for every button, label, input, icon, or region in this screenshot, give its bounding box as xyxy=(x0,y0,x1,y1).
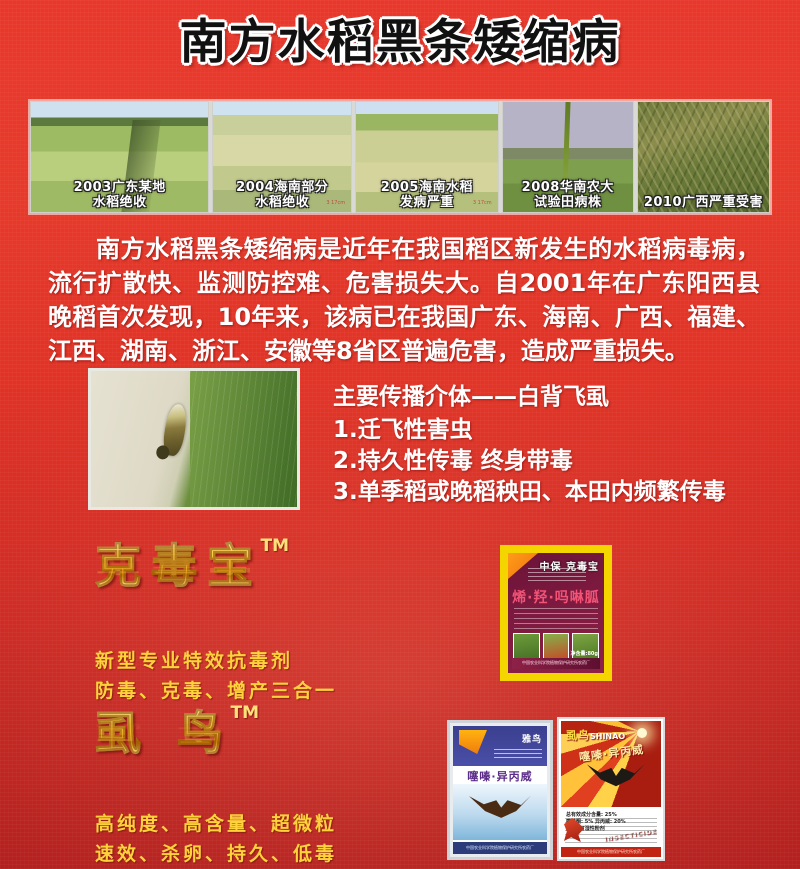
package-body: 雅鸟 噻嗪·异丙威 中国农业科学院植物保护研究所农药厂 xyxy=(453,726,547,854)
package-footer-bar: 中国农业科学院植物保护研究所农药厂 xyxy=(512,658,600,669)
brand-name-shinao: 虱 鸟 xyxy=(95,707,233,759)
package-top-band: 雅鸟 xyxy=(453,726,547,766)
planthopper-insect-icon xyxy=(161,402,189,456)
vector-item-2: 2.持久性传毒 终身带毒 xyxy=(333,446,783,477)
intro-paragraph: 南方水稻黑条矮缩病是近年在我国稻区新发生的水稻病毒病，流行扩散快、监测防控难、危… xyxy=(48,232,760,368)
package-description-lines xyxy=(514,607,598,629)
vector-item-3: 3.单季稻或晚稻秧田、本田内频繁传毒 xyxy=(333,477,783,508)
brand-block-kedubao: 克毒宝 TM 克毒宝 新型专业特效抗毒剂 防毒、克毒、增产三合一 xyxy=(95,540,395,706)
package-info-lines xyxy=(494,746,542,758)
photo-2010-guangxi: 2010广西严重受害 xyxy=(637,101,770,213)
photo-caption-line2: 水稻绝收 xyxy=(31,195,208,210)
rice-leaf-image xyxy=(190,371,297,507)
photo-caption-line1: 2004海南部分 xyxy=(213,180,351,195)
brand-name-kedubao: 克毒宝 xyxy=(95,540,263,592)
poster-root: 南方水稻黑条矮缩病 2003广东某地 水稻绝收 2004海南部分 水稻绝收 3 … xyxy=(0,0,800,869)
arrow-logo-icon xyxy=(459,730,487,754)
photo-caption-line1: 2005海南水稻 xyxy=(356,180,498,195)
photo-caption: 2008华南农大 试验田病株 xyxy=(503,180,633,210)
package-footer-bar: 中国农业科学院植物保护研究所农药厂 xyxy=(561,847,661,857)
photo-strip: 2003广东某地 水稻绝收 2004海南部分 水稻绝收 3 17cm 2005海… xyxy=(30,101,770,213)
package-body: 中保 克毒宝 烯·羟·吗啉胍 净含量:80g 中国农业科学院植物保护研究所农药厂 xyxy=(508,553,604,673)
package-brand-en: SHINAO xyxy=(590,732,625,741)
brand-tagline-1: 高纯度、高含量、超微粒 xyxy=(95,809,415,839)
package-footer-bar: 中国农业科学院植物保护研究所农药厂 xyxy=(453,842,547,854)
package-brand: 雅鸟 xyxy=(522,732,542,745)
photo-caption-line1: 2003广东某地 xyxy=(31,180,208,195)
package-product-name: 噻嗪·异丙威 xyxy=(453,768,547,784)
photo-caption: 2010广西严重受害 xyxy=(638,195,769,210)
package-kedubao: 中保 克毒宝 烯·羟·吗啉胍 净含量:80g 中国农业科学院植物保护研究所农药厂 xyxy=(500,545,612,681)
package-manufacturer: 中国农业科学院植物保护研究所农药厂 xyxy=(563,849,659,855)
photo-2003-guangdong: 2003广东某地 水稻绝收 xyxy=(30,101,209,213)
package-manufacturer: 中国农业科学院植物保护研究所农药厂 xyxy=(455,845,545,851)
package-shinao: 虱鸟SHINAO 噻嗪·异丙威 INSECTICIDE 总有效成分含量: 25%… xyxy=(557,717,665,861)
photo-scale-note: 3 17cm xyxy=(473,200,492,206)
trademark-symbol: TM xyxy=(260,536,289,556)
photo-caption-line1: 2008华南农大 xyxy=(503,180,633,195)
package-manufacturer: 中国农业科学院植物保护研究所农药厂 xyxy=(515,660,597,666)
photo-caption-line1: 2010广西严重受害 xyxy=(638,195,769,210)
brand-tagline-2: 防毒、克毒、增产三合一 xyxy=(95,676,395,706)
package-brand: 虱鸟SHINAO xyxy=(566,727,625,743)
photo-scale-note: 3 17cm xyxy=(326,200,345,206)
photo-2004-hainan: 2004海南部分 水稻绝收 3 17cm xyxy=(212,101,352,213)
title-bar: 南方水稻黑条矮缩病 xyxy=(0,14,800,72)
package-product-name: 烯·羟·吗啉胍 xyxy=(512,587,600,607)
vector-section: 主要传播介体——白背飞虱 1.迁飞性害虫 2.持久性传毒 终身带毒 3.单季稻或… xyxy=(333,382,783,508)
package-body: 虱鸟SHINAO 噻嗪·异丙威 INSECTICIDE 总有效成分含量: 25%… xyxy=(561,721,661,857)
package-net-weight: 净含量:80g xyxy=(570,650,598,657)
brand-block-shinao: 虱 鸟 TM 虱 鸟 高纯度、高含量、超微粒 速效、杀卵、持久、低毒 抗性飞虱 … xyxy=(95,707,415,869)
page-title: 南方水稻黑条矮缩病 xyxy=(180,14,621,72)
brand-tagline-1: 新型专业特效抗毒剂 xyxy=(95,646,395,676)
package-brand-cn: 虱鸟 xyxy=(566,729,590,742)
vector-item-1: 1.迁飞性害虫 xyxy=(333,415,783,446)
photo-2008-scau: 2008华南农大 试验田病株 xyxy=(502,101,634,213)
brand-tagline-2: 速效、杀卵、持久、低毒 xyxy=(95,839,415,869)
photo-caption: 2003广东某地 水稻绝收 xyxy=(31,180,208,210)
package-subtext-block xyxy=(528,567,586,581)
package-eagle: 雅鸟 噻嗪·异丙威 中国农业科学院植物保护研究所农药厂 xyxy=(447,720,553,860)
planthopper-photo xyxy=(88,368,300,510)
sun-flare-icon xyxy=(637,728,647,738)
vector-heading: 主要传播介体——白背飞虱 xyxy=(333,382,783,413)
photo-caption-line2: 试验田病株 xyxy=(503,195,633,210)
photo-2005-hainan: 2005海南水稻 发病严重 3 17cm xyxy=(355,101,499,213)
trademark-symbol: TM xyxy=(231,703,260,723)
